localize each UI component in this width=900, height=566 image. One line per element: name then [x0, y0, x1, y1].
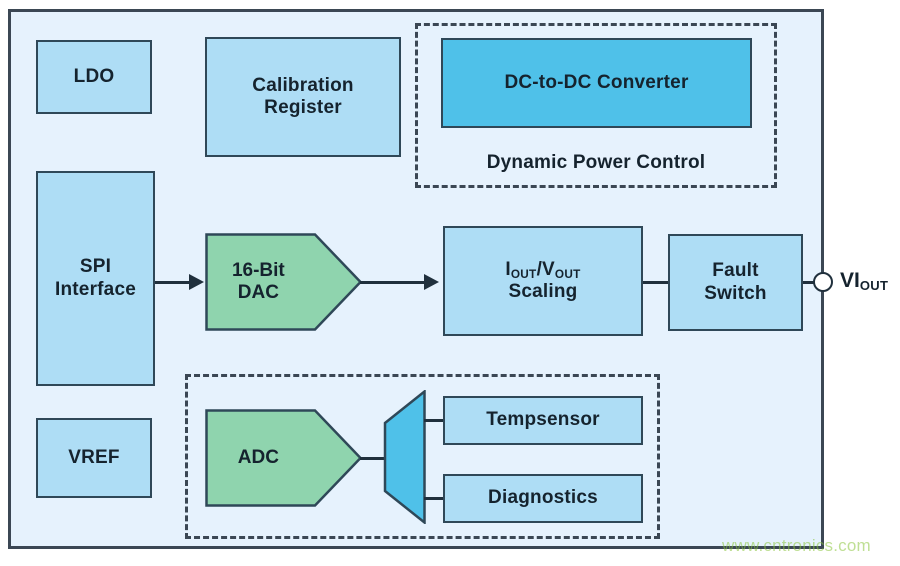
block-diagram-canvas: LDO Calibration Register DC-to-DC Conver… — [0, 0, 900, 566]
scaling-sub-out-1: OUT — [511, 268, 537, 281]
output-pin-label: VIOUT — [840, 269, 888, 293]
block-dac[interactable]: 16-Bit DAC — [205, 233, 362, 331]
scaling-i: I — [505, 259, 510, 280]
wire-mux-to-diagnostics — [424, 497, 445, 500]
wire-scaling-to-fault-switch — [643, 281, 670, 284]
block-dc-to-dc-converter[interactable]: DC-to-DC Converter — [441, 38, 752, 128]
wire-dac-to-scaling — [360, 281, 426, 284]
scaling-slash-v: /V — [537, 259, 555, 280]
block-diagnostics[interactable]: Diagnostics — [443, 474, 643, 523]
wire-mux-to-tempsensor — [424, 419, 445, 422]
block-iout-vout-scaling[interactable]: IOUT/VOUT Scaling — [443, 226, 643, 336]
block-adc[interactable]: ADC — [205, 409, 362, 507]
block-spi-interface-label: SPI Interface — [55, 256, 136, 300]
scaling-line-2: Scaling — [509, 281, 578, 302]
block-fault-switch-label: Fault Switch — [704, 260, 766, 304]
output-pin-label-sub: OUT — [860, 278, 888, 293]
mux-trapezoid-shape — [382, 390, 426, 524]
arrowhead-spi-to-dac — [189, 274, 204, 290]
dac-pentagon-shape — [205, 233, 362, 331]
scaling-sub-out-2: OUT — [555, 268, 581, 281]
block-spi-interface[interactable]: SPI Interface — [36, 171, 155, 386]
output-pin-terminal[interactable] — [813, 272, 833, 292]
block-ldo-label: LDO — [74, 66, 115, 88]
block-diagnostics-label: Diagnostics — [488, 487, 598, 509]
output-pin-label-prefix: VI — [840, 269, 860, 292]
wire-spi-to-dac — [155, 281, 191, 284]
block-dc-to-dc-converter-label: DC-to-DC Converter — [504, 72, 688, 94]
block-iout-vout-scaling-label: IOUT/VOUT Scaling — [505, 259, 580, 303]
block-calibration-register[interactable]: Calibration Register — [205, 37, 401, 157]
arrowhead-dac-to-scaling — [424, 274, 439, 290]
block-fault-switch[interactable]: Fault Switch — [668, 234, 803, 331]
block-ldo[interactable]: LDO — [36, 40, 152, 114]
block-calibration-register-label: Calibration Register — [252, 75, 353, 119]
block-tempsensor-label: Tempsensor — [486, 409, 600, 431]
block-vref-label: VREF — [68, 447, 119, 469]
block-tempsensor[interactable]: Tempsensor — [443, 396, 643, 445]
block-vref[interactable]: VREF — [36, 418, 152, 498]
adc-pentagon-shape — [205, 409, 362, 507]
scaling-line-1: IOUT/VOUT — [505, 259, 580, 280]
block-mux[interactable] — [382, 390, 426, 524]
group-dynamic-power-control-caption: Dynamic Power Control — [415, 152, 777, 174]
watermark: www.cntronics.com — [722, 536, 871, 556]
